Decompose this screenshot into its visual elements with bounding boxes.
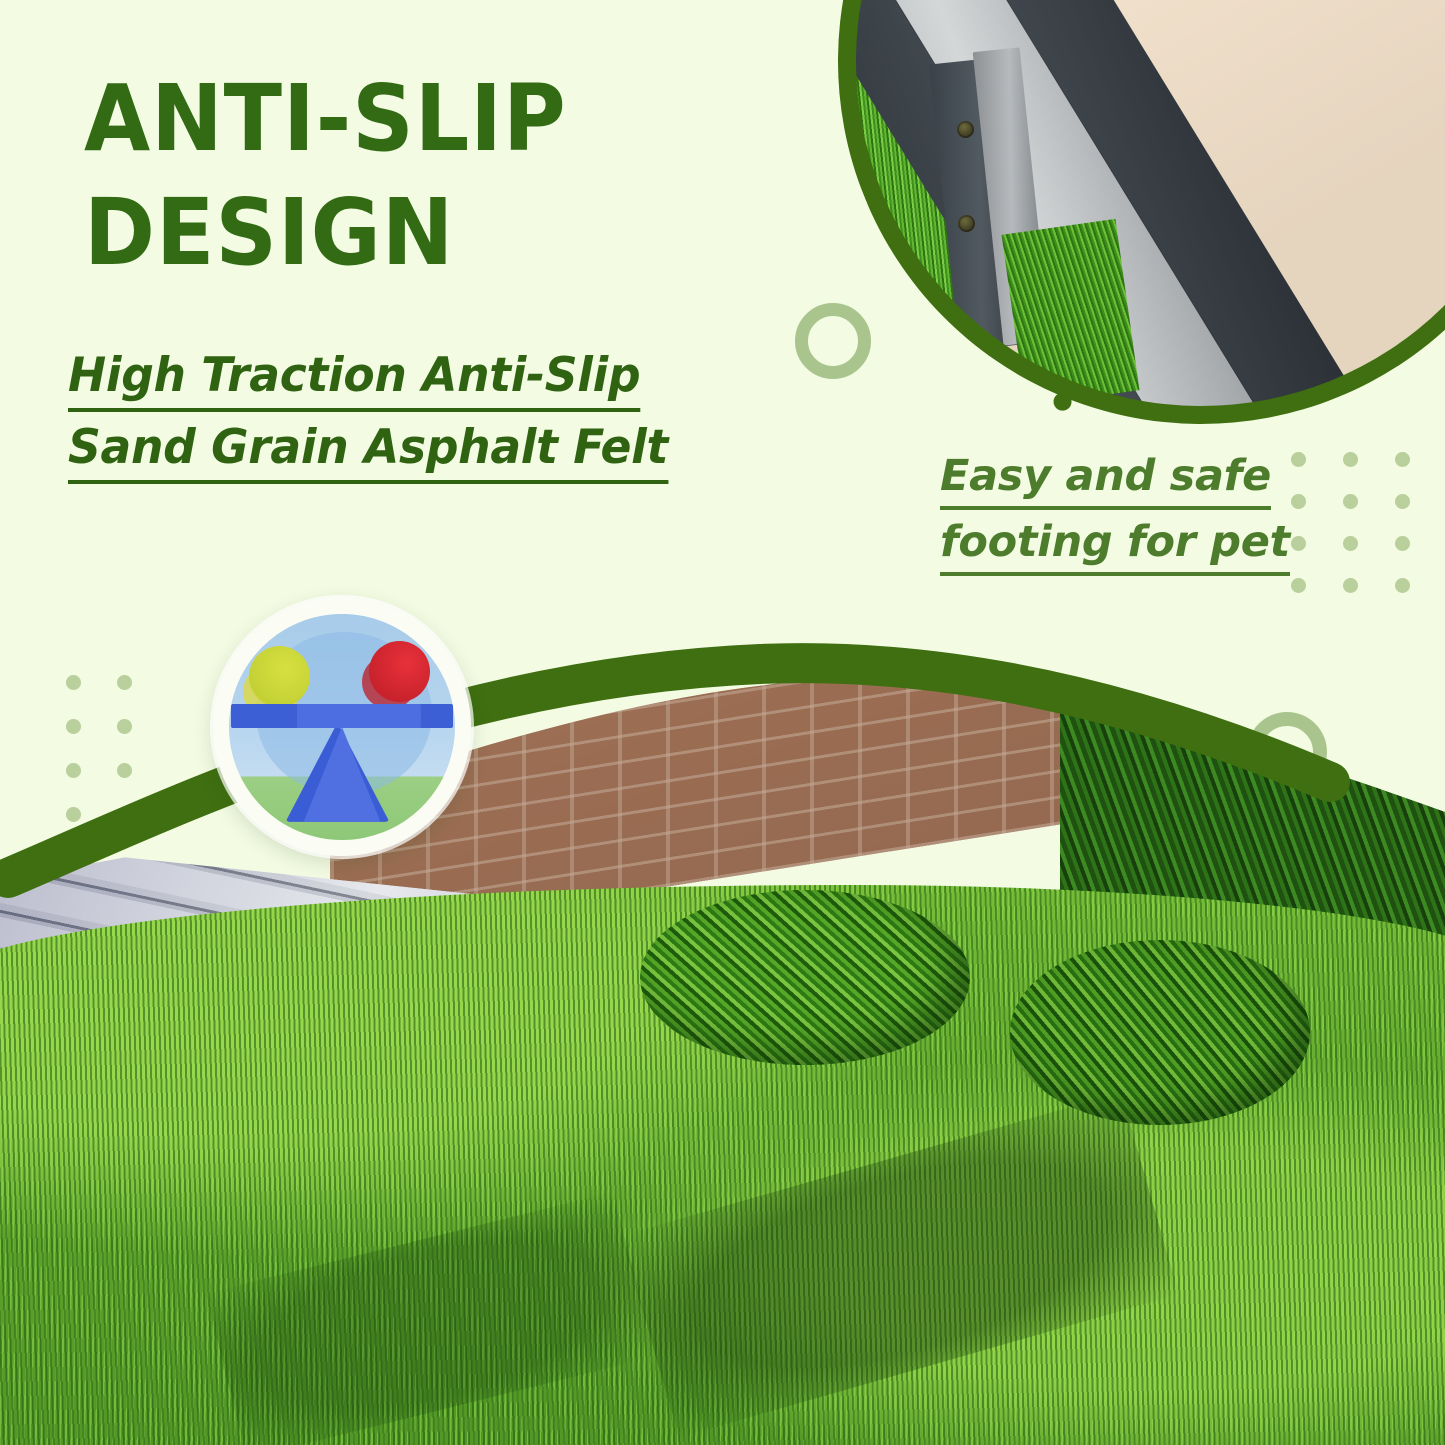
seesaw-plank-highlight	[297, 704, 421, 728]
page-title: Anti-Slip Design	[84, 62, 679, 290]
ball-yellow	[249, 646, 310, 707]
decor-dot	[1343, 452, 1358, 467]
decor-dot	[1343, 494, 1358, 509]
decor-dot	[1395, 452, 1410, 467]
dot-grid-right	[1291, 452, 1445, 620]
subtitle-block: High Traction Anti-Slip Sand Grain Aspha…	[68, 352, 728, 496]
seesaw-balance-badge	[213, 598, 471, 856]
decor-dot	[1343, 578, 1358, 593]
subtitle-line-1: High Traction Anti-Slip	[68, 352, 640, 412]
infographic-canvas: Anti-Slip Design High Traction Anti-Slip…	[0, 0, 1445, 1445]
caption-line-2: footing for pet	[940, 521, 1290, 576]
ball-red	[369, 641, 430, 702]
section-divider-arc	[0, 600, 1445, 960]
subtitle-line-2: Sand Grain Asphalt Felt	[68, 424, 668, 484]
seesaw-balance-icon	[229, 614, 455, 840]
feature-caption-block: Easy and safe footing for pet	[940, 455, 1300, 587]
caption-line-1: Easy and safe	[940, 455, 1271, 510]
decor-dot	[1395, 494, 1410, 509]
headline-line-2: Design	[84, 176, 679, 290]
decor-dot	[1395, 536, 1410, 551]
headline-line-1: Anti-Slip	[84, 62, 679, 176]
decor-dot	[1395, 578, 1410, 593]
garden-bush	[1010, 940, 1310, 1125]
decor-dot	[1343, 536, 1358, 551]
